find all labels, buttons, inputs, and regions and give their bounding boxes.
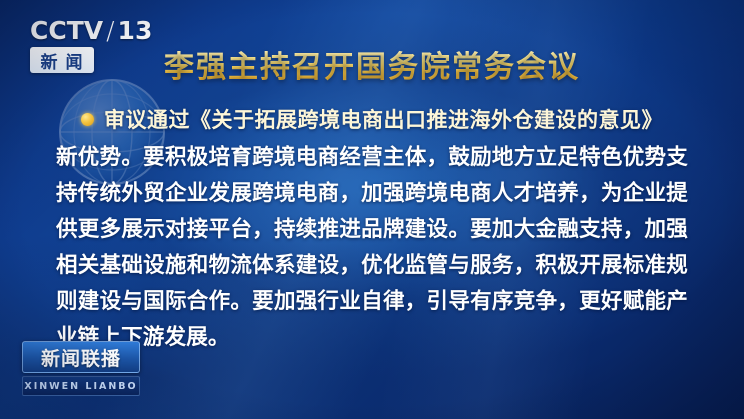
- broadcast-screen: CCTV / 13 新 闻 李强主持召开国务院常务会议 审议通过《关于拓展跨境电…: [0, 0, 744, 419]
- program-bug-title: 新闻联播: [41, 344, 121, 371]
- cctv-logo-slash: /: [106, 18, 114, 44]
- bullet-heading: 审议通过《关于拓展跨境电商出口推进海外仓建设的意见》: [0, 104, 744, 134]
- program-bug-subtitle-plate: XINWEN LIANBO: [22, 376, 140, 396]
- body-paragraph: 新优势。要积极培育跨境电商经营主体，鼓励地方立足特色优势支持传统外贸企业发展跨境…: [56, 140, 688, 356]
- bullet-dot-icon: [81, 113, 94, 126]
- headline-title: 李强主持召开国务院常务会议: [0, 42, 744, 86]
- cctv-wordmark: CCTV: [30, 18, 103, 44]
- program-bug-subtitle: XINWEN LIANBO: [24, 381, 137, 392]
- program-bug: 新闻联播 XINWEN LIANBO: [22, 341, 150, 403]
- program-bug-title-plate: 新闻联播: [22, 341, 140, 373]
- bullet-heading-label: 审议通过《关于拓展跨境电商出口推进海外仓建设的意见》: [104, 104, 663, 134]
- cctv13-logo-row: CCTV / 13: [30, 14, 170, 44]
- cctv-channel-number: 13: [118, 18, 153, 44]
